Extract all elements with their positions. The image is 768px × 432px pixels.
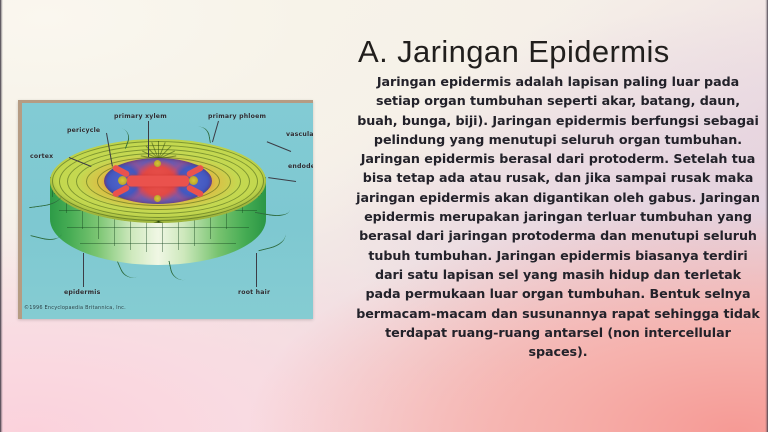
root-cross-section-figure: primary xylem primary phloem pericycle v… (18, 100, 313, 319)
figure-label-vascular-cambium-text: vascular cambium (286, 131, 313, 138)
figure-label-primary-phloem: primary phloem (208, 113, 266, 120)
figure-label-primary-xylem: primary xylem (114, 113, 167, 120)
phloem-core-bottom (154, 195, 161, 202)
vascular-cylinder-stele (104, 158, 212, 204)
root-hair-4 (168, 257, 193, 283)
body-paragraph: Jaringan epidermis adalah lapisan paling… (356, 72, 760, 361)
root-cross-section-face (50, 139, 266, 223)
primary-xylem-cross (127, 176, 189, 187)
phloem-core-left (118, 176, 127, 185)
figure-label-epidermis: epidermis (64, 289, 100, 296)
figure-label-endodermis: endodermis (288, 163, 313, 170)
phloem-core-top (154, 160, 161, 167)
leader-epidermis (83, 253, 84, 287)
leader-vascular-cambium (267, 141, 291, 152)
figure-label-cortex: cortex (30, 153, 53, 160)
leader-endodermis (268, 177, 296, 182)
figure-credit: ©1996 Encyclopaedia Britannica, Inc. (24, 305, 126, 311)
leader-root-hair (256, 253, 257, 287)
body-text: Jaringan epidermis adalah lapisan paling… (356, 72, 760, 361)
figure-label-root-hair: root hair (238, 289, 270, 296)
phloem-core-right (189, 176, 198, 185)
figure-label-vascular-cambium: vascular cambium (286, 131, 313, 138)
slide-canvas: primary xylem primary phloem pericycle v… (0, 0, 768, 432)
page-title: A. Jaringan Epidermis (358, 35, 758, 69)
root-hair-8 (191, 125, 211, 146)
figure-canvas: primary xylem primary phloem pericycle v… (22, 103, 313, 319)
leader-primary-xylem (148, 121, 149, 157)
figure-label-pericycle: pericycle (67, 127, 100, 134)
